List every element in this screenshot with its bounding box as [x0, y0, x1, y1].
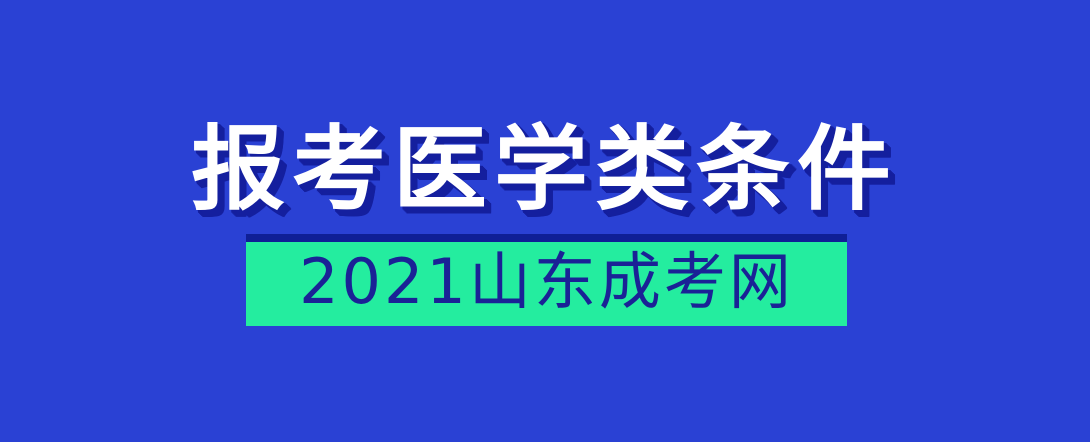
headline-title: 报考医学类条件 [192, 124, 899, 216]
site-name-label: 2021山东成考网 [299, 251, 794, 313]
promo-banner: 报考医学类条件 2021山东成考网 [0, 0, 1090, 442]
headline-container: 报考医学类条件 [0, 118, 1090, 222]
subtitle-banner: 2021山东成考网 [246, 234, 847, 326]
navy-divider-rule [246, 234, 847, 242]
green-plate: 2021山东成考网 [246, 242, 847, 326]
